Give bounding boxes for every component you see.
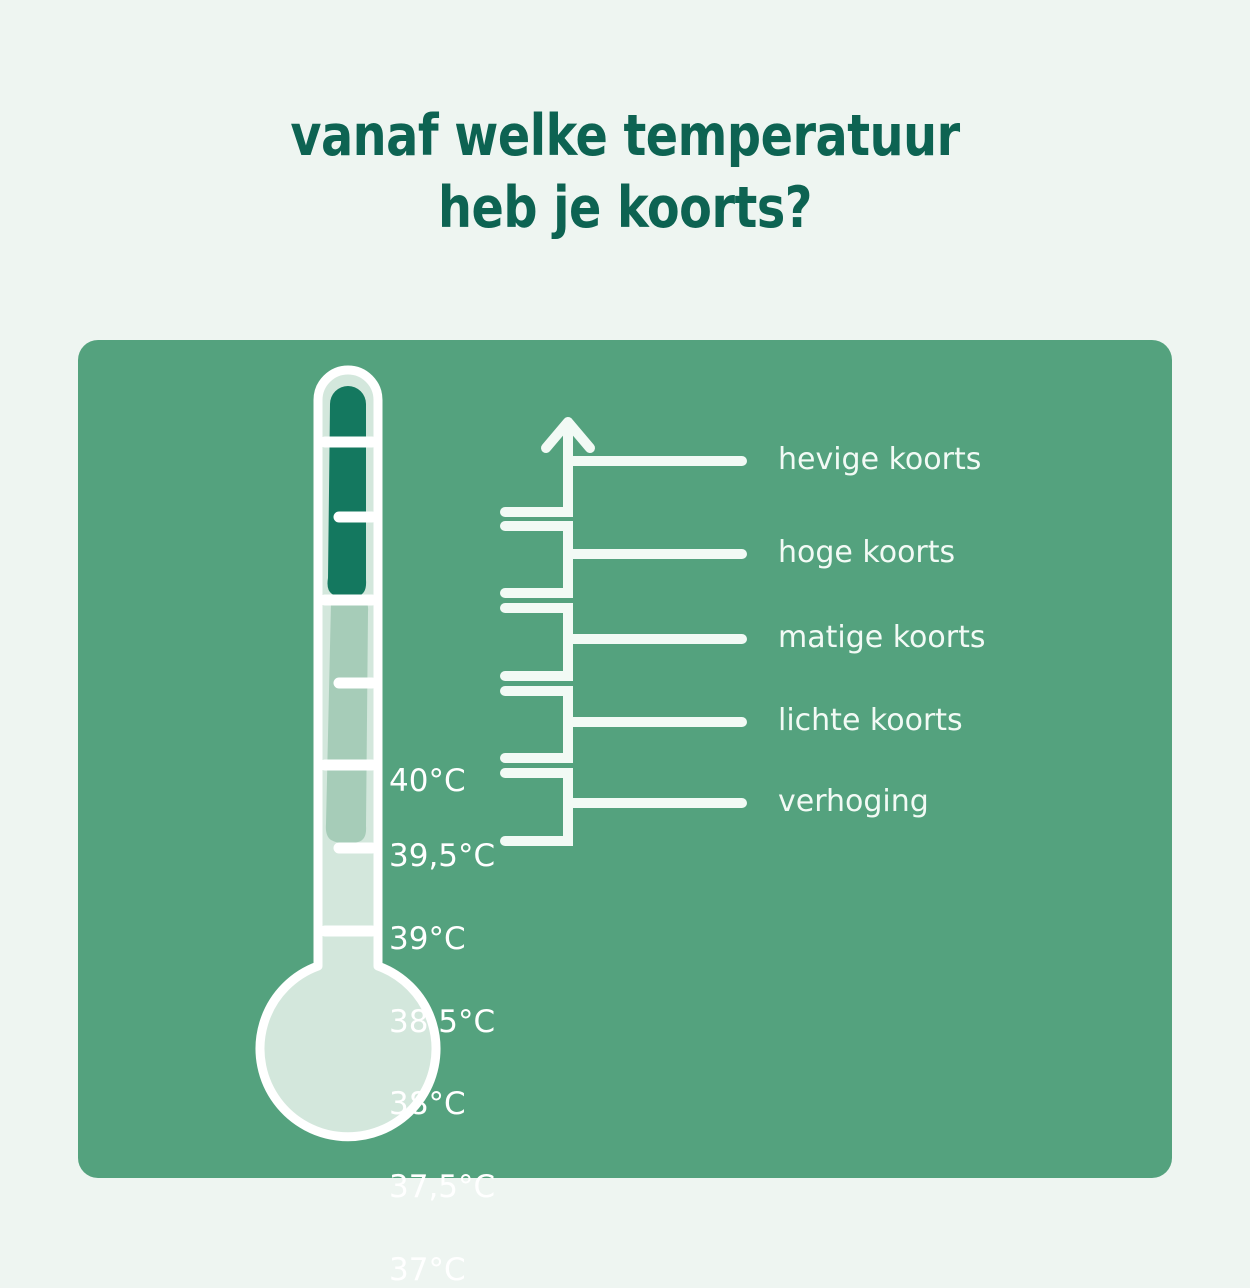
bracket-hevige-koorts (505, 422, 742, 512)
bracket-matige-koorts (505, 608, 742, 676)
mercury-hot (328, 386, 367, 598)
scale-label-39-5: 39,5°C (389, 841, 495, 872)
bracket-system (505, 422, 742, 841)
page-title-line-2: heb je koorts? (44, 172, 1207, 244)
thermometer-mercury (326, 386, 368, 844)
bracket-lichte-koorts (505, 691, 742, 758)
mercury-warm (326, 597, 368, 844)
scale-label-37: 37°C (389, 1255, 466, 1286)
page-title: vanaf welke temperatuur heb je koorts? (44, 100, 1207, 244)
scale-label-38-5: 38,5°C (389, 1007, 495, 1038)
scale-label-38: 38°C (389, 1089, 466, 1120)
thermometer-card: 40°C 39,5°C 39°C 38,5°C 38°C 37,5°C 37°C… (78, 340, 1172, 1178)
category-label-hevige-koorts: hevige koorts (778, 445, 981, 475)
category-label-lichte-koorts: lichte koorts (778, 706, 963, 736)
bracket-hoge-koorts (505, 526, 742, 593)
infographic-canvas: vanaf welke temperatuur heb je koorts? (0, 0, 1250, 1250)
scale-label-40: 40°C (389, 766, 466, 797)
scale-label-39: 39°C (389, 924, 466, 955)
category-label-matige-koorts: matige koorts (778, 623, 985, 653)
scale-label-37-5: 37,5°C (389, 1172, 495, 1203)
page-title-line-1: vanaf welke temperatuur (44, 100, 1207, 172)
category-label-verhoging: verhoging (778, 787, 929, 817)
category-label-hoge-koorts: hoge koorts (778, 538, 955, 568)
thermometer-diagram (78, 340, 1172, 1178)
bracket-verhoging (505, 773, 742, 841)
